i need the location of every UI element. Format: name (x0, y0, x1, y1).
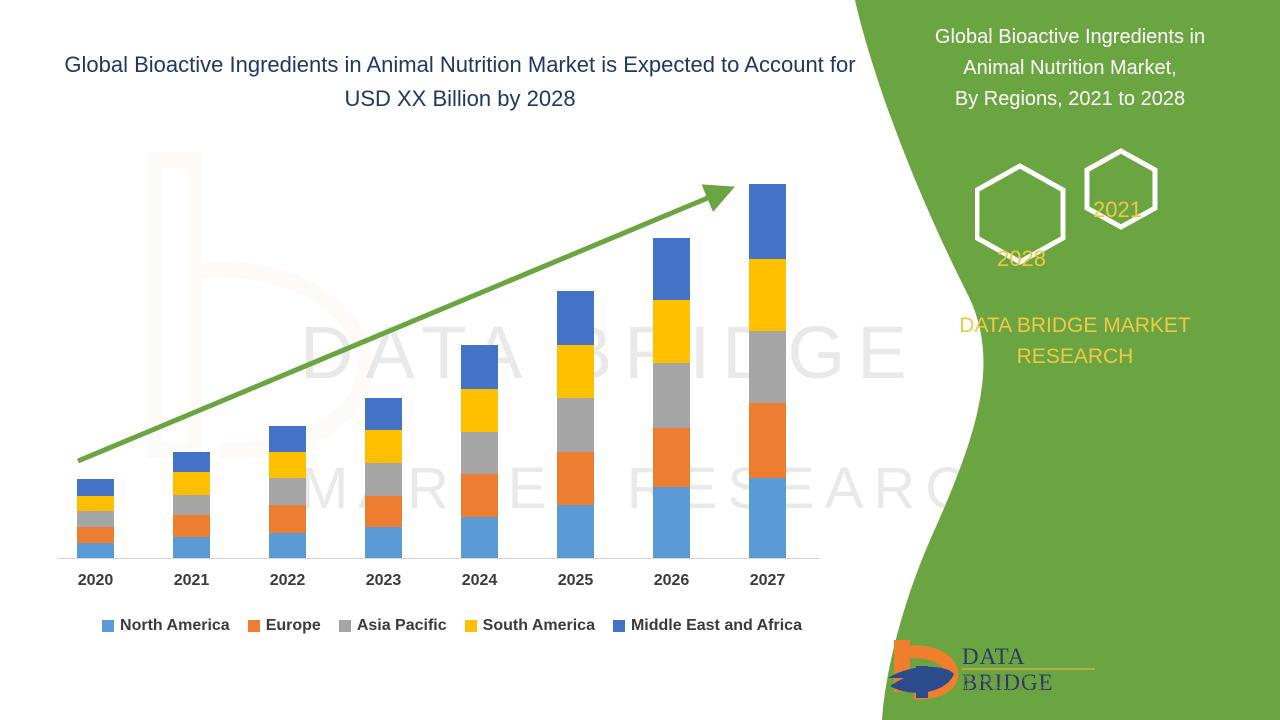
stacked-bar-chart: 20202021202220232024202520262027 (0, 0, 900, 720)
x-axis-label-2022: 2022 (240, 572, 336, 590)
legend-swatch-icon (465, 620, 477, 632)
bar-segment-asia-pacific (269, 478, 306, 505)
x-axis-label-2025: 2025 (528, 572, 624, 590)
bar-segment-middle-east-and-africa (269, 426, 306, 452)
bar-segment-europe (365, 496, 402, 527)
hexagon-badges: 2028 2021 (975, 148, 1190, 273)
legend-label: North America (120, 617, 230, 635)
x-axis-label-2024: 2024 (432, 572, 528, 590)
bar-segment-asia-pacific (557, 398, 594, 452)
bar-segment-south-america (653, 300, 690, 363)
bar-2020 (77, 479, 114, 558)
bar-segment-south-america (269, 452, 306, 478)
hexagon-2021-label: 2021 (1093, 197, 1142, 223)
legend-label: Middle East and Africa (631, 617, 802, 635)
legend-swatch-icon (613, 620, 625, 632)
bar-segment-south-america (173, 472, 210, 495)
bar-segment-south-america (557, 345, 594, 398)
panel-title-line2: Animal Nutrition Market, (880, 53, 1260, 84)
bar-2027 (749, 184, 786, 558)
bar-segment-north-america (749, 478, 786, 558)
bar-segment-middle-east-and-africa (557, 291, 594, 345)
bar-segment-south-america (77, 496, 114, 511)
x-axis-line (57, 558, 820, 559)
bar-segment-asia-pacific (77, 511, 114, 527)
legend-label: Asia Pacific (357, 617, 447, 635)
bar-segment-south-america (749, 259, 786, 331)
bar-segment-middle-east-and-africa (77, 479, 114, 496)
bar-segment-asia-pacific (365, 463, 402, 496)
bar-segment-north-america (269, 533, 306, 558)
logo-tagline: MARKET RESEARCH (964, 673, 1110, 693)
bar-segment-asia-pacific (653, 363, 690, 428)
bar-segment-asia-pacific (749, 331, 786, 403)
bar-2021 (173, 452, 210, 558)
bar-segment-europe (557, 452, 594, 505)
legend-item-middle-east-and-africa[interactable]: Middle East and Africa (613, 617, 802, 635)
bar-segment-middle-east-and-africa (653, 238, 690, 300)
bar-segment-south-america (365, 430, 402, 463)
brand-name-line1: DATA BRIDGE MARKET (930, 310, 1220, 341)
chart-panel: DATA BRIDGE MARKET RESEARCH Global Bioac… (0, 0, 900, 720)
chart-legend: North AmericaEuropeAsia PacificSouth Ame… (57, 617, 847, 635)
panel-title-line3: By Regions, 2021 to 2028 (880, 84, 1260, 115)
bar-segment-north-america (461, 517, 498, 558)
bar-segment-north-america (557, 505, 594, 558)
x-axis-label-2027: 2027 (720, 572, 816, 590)
bar-segment-north-america (653, 487, 690, 558)
legend-swatch-icon (248, 620, 260, 632)
brand-name-line2: RESEARCH (930, 341, 1220, 372)
legend-label: Europe (266, 617, 321, 635)
bar-segment-asia-pacific (173, 495, 210, 515)
company-logo: DATA BRIDGE MARKET RESEARCH (880, 636, 1110, 706)
x-axis-label-2020: 2020 (48, 572, 144, 590)
bar-segment-north-america (173, 537, 210, 558)
legend-swatch-icon (339, 620, 351, 632)
bar-segment-south-america (461, 389, 498, 432)
bar-segment-middle-east-and-africa (461, 345, 498, 389)
hexagon-2028-label: 2028 (997, 246, 1046, 272)
legend-item-south-america[interactable]: South America (465, 617, 595, 635)
bar-segment-europe (77, 527, 114, 543)
bar-segment-europe (461, 474, 498, 517)
bar-2024 (461, 345, 498, 558)
bar-2023 (365, 398, 402, 558)
bar-segment-north-america (77, 543, 114, 558)
bar-segment-middle-east-and-africa (365, 398, 402, 430)
legend-item-north-america[interactable]: North America (102, 617, 230, 635)
slide-canvas: DATA BRIDGE MARKET RESEARCH Global Bioac… (0, 0, 1280, 720)
bar-segment-asia-pacific (461, 432, 498, 474)
bar-segment-europe (269, 505, 306, 533)
bar-2022 (269, 426, 306, 558)
bar-2026 (653, 238, 690, 558)
bar-segment-europe (749, 403, 786, 478)
bar-2025 (557, 291, 594, 558)
bar-segment-north-america (365, 527, 402, 558)
legend-item-asia-pacific[interactable]: Asia Pacific (339, 617, 447, 635)
bar-segment-europe (653, 428, 690, 487)
x-axis-label-2023: 2023 (336, 572, 432, 590)
panel-title: Global Bioactive Ingredients in Animal N… (880, 22, 1260, 115)
x-axis-label-2021: 2021 (144, 572, 240, 590)
legend-label: South America (483, 617, 595, 635)
x-axis-label-2026: 2026 (624, 572, 720, 590)
bar-segment-middle-east-and-africa (749, 184, 786, 259)
bar-segment-europe (173, 515, 210, 537)
legend-swatch-icon (102, 620, 114, 632)
panel-title-line1: Global Bioactive Ingredients in (880, 22, 1260, 53)
brand-name: DATA BRIDGE MARKET RESEARCH (930, 310, 1220, 372)
legend-item-europe[interactable]: Europe (248, 617, 321, 635)
bar-segment-middle-east-and-africa (173, 452, 210, 472)
